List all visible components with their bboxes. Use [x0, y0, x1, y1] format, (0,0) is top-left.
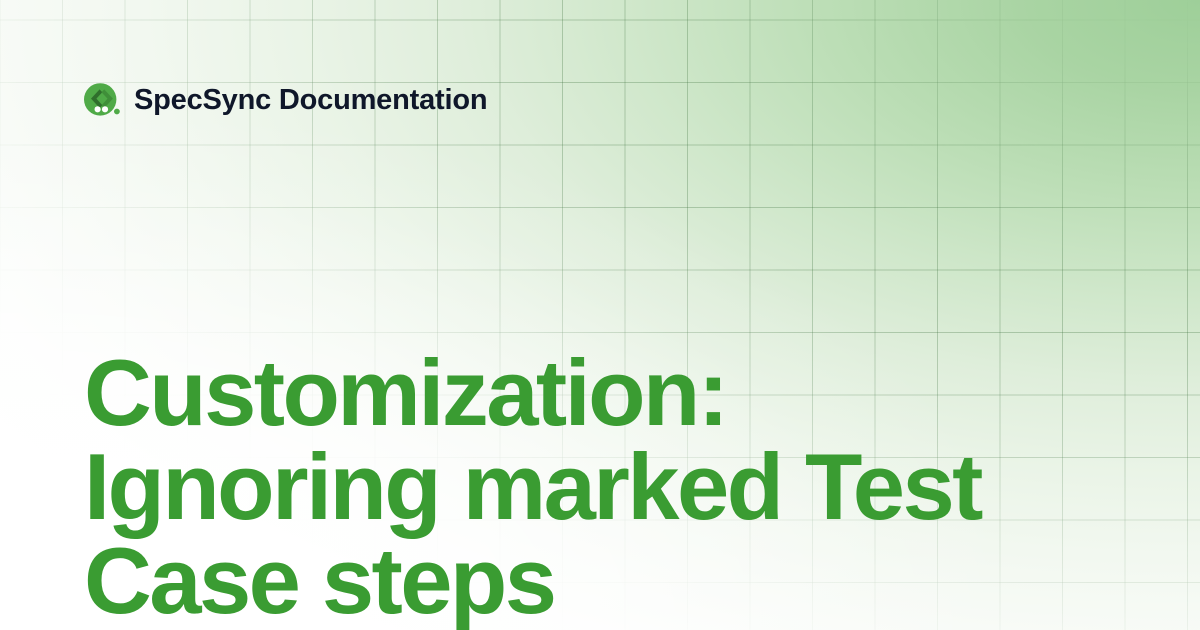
card-content: SpecSync Documentation Customization: Ig… — [0, 0, 1200, 630]
og-card: SpecSync Documentation Customization: Ig… — [0, 0, 1200, 630]
page-title: Customization: Ignoring marked Test Case… — [84, 346, 1094, 628]
brand-header: SpecSync Documentation — [84, 82, 487, 118]
brand-title: SpecSync Documentation — [134, 86, 487, 115]
specsync-logo-icon — [84, 82, 120, 118]
